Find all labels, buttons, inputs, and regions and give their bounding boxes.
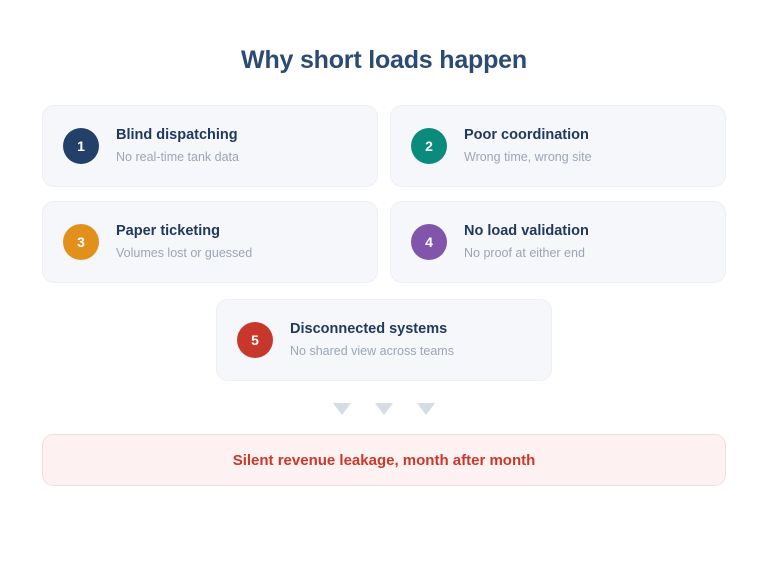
reason-card-4[interactable]: 4 No load validation No proof at either … xyxy=(390,201,726,283)
reason-card-3[interactable]: 3 Paper ticketing Volumes lost or guesse… xyxy=(42,201,378,283)
reason-card-subtitle-1: No real-time tank data xyxy=(116,150,239,165)
connector-arrows xyxy=(42,403,726,415)
triangle-down-icon xyxy=(417,403,435,415)
reason-number-label-2: 2 xyxy=(425,139,433,153)
reason-card-title-4: No load validation xyxy=(464,223,589,240)
reason-card-grid: 1 Blind dispatching No real-time tank da… xyxy=(42,105,726,381)
reason-card-1[interactable]: 1 Blind dispatching No real-time tank da… xyxy=(42,105,378,187)
outcome-banner-text: Silent revenue leakage, month after mont… xyxy=(233,452,536,469)
reason-card-title-2: Poor coordination xyxy=(464,127,592,144)
reason-number-badge-5: 5 xyxy=(237,322,273,358)
reason-card-text-4: No load validation No proof at either en… xyxy=(464,223,589,260)
reason-number-badge-1: 1 xyxy=(63,128,99,164)
reason-card-subtitle-2: Wrong time, wrong site xyxy=(464,150,592,165)
reason-card-2[interactable]: 2 Poor coordination Wrong time, wrong si… xyxy=(390,105,726,187)
page-title: Why short loads happen xyxy=(42,0,726,75)
reason-card-subtitle-5: No shared view across teams xyxy=(290,344,454,359)
reason-card-5[interactable]: 5 Disconnected systems No shared view ac… xyxy=(216,299,552,381)
reason-card-text-2: Poor coordination Wrong time, wrong site xyxy=(464,127,592,164)
triangle-down-icon xyxy=(333,403,351,415)
reason-card-text-1: Blind dispatching No real-time tank data xyxy=(116,127,239,164)
reason-number-label-1: 1 xyxy=(77,139,85,153)
reason-number-label-3: 3 xyxy=(77,235,85,249)
reason-card-text-5: Disconnected systems No shared view acro… xyxy=(290,321,454,358)
reason-number-badge-2: 2 xyxy=(411,128,447,164)
reason-card-subtitle-4: No proof at either end xyxy=(464,246,589,261)
reason-number-badge-4: 4 xyxy=(411,224,447,260)
reason-card-subtitle-3: Volumes lost or guessed xyxy=(116,246,252,261)
outcome-banner: Silent revenue leakage, month after mont… xyxy=(42,434,726,486)
triangle-down-icon xyxy=(375,403,393,415)
slide-root: Why short loads happen 1 Blind dispatchi… xyxy=(0,0,768,566)
reason-number-badge-3: 3 xyxy=(63,224,99,260)
reason-card-title-3: Paper ticketing xyxy=(116,223,252,240)
reason-card-title-5: Disconnected systems xyxy=(290,321,454,338)
reason-card-text-3: Paper ticketing Volumes lost or guessed xyxy=(116,223,252,260)
reason-card-title-1: Blind dispatching xyxy=(116,127,239,144)
reason-number-label-4: 4 xyxy=(425,235,433,249)
reason-number-label-5: 5 xyxy=(251,333,259,347)
